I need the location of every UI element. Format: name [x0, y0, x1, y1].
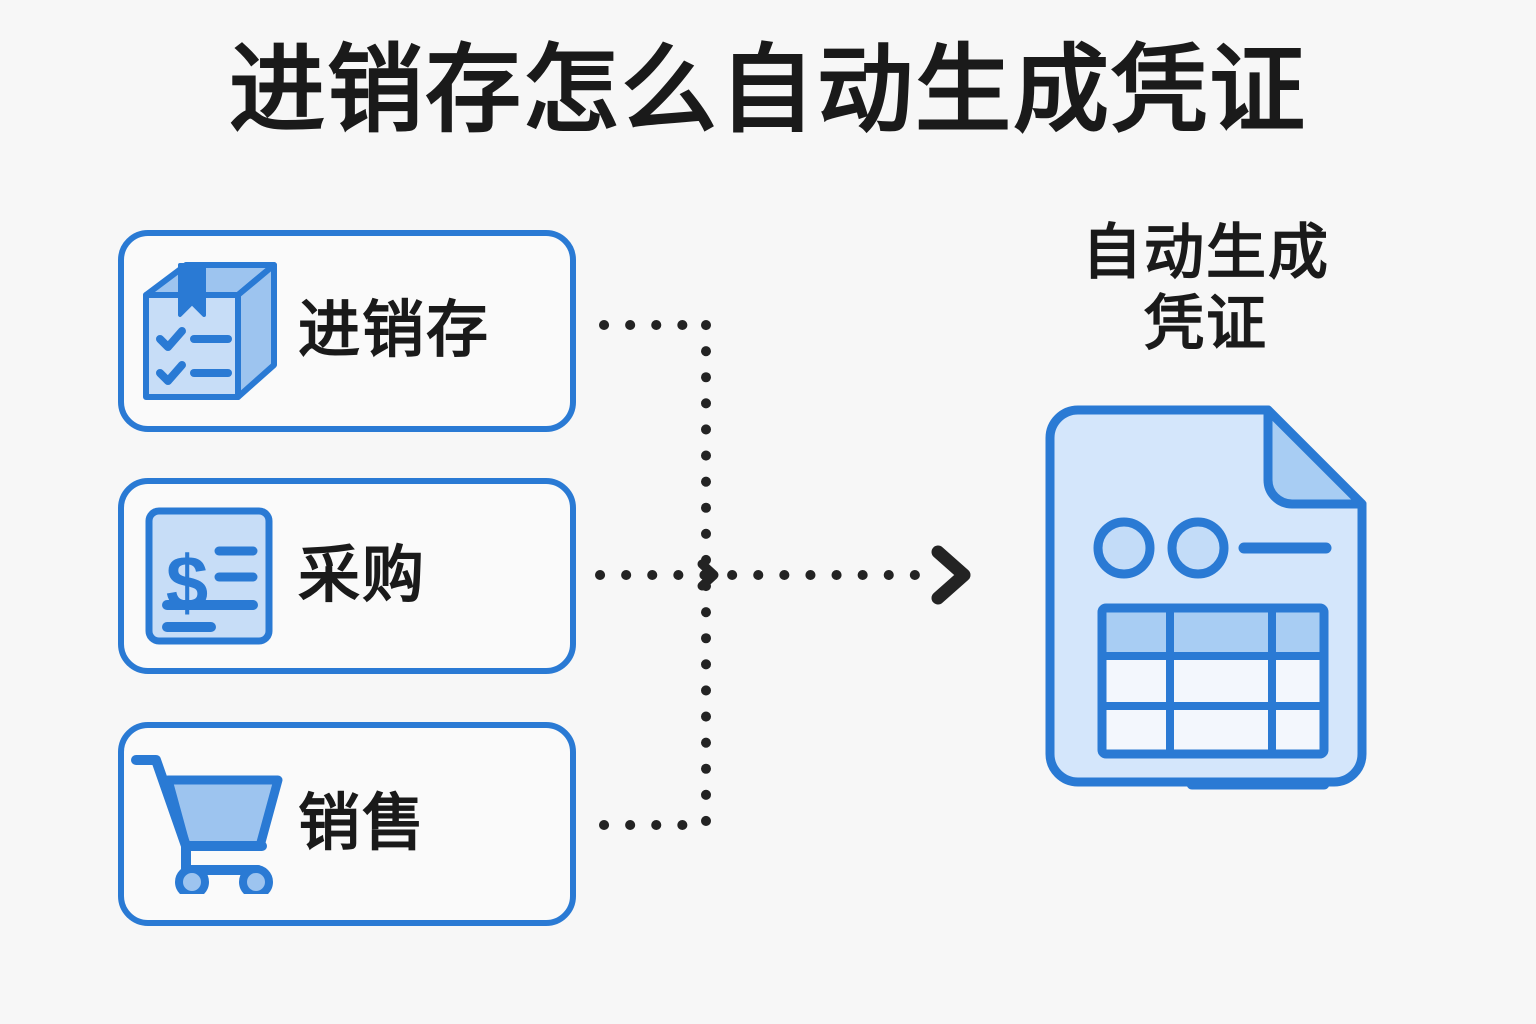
module-card-label: 进销存 [298, 300, 490, 362]
module-card-sales[interactable]: 销售 [118, 722, 576, 926]
output-heading-line-1: 自动生成 [1082, 219, 1330, 286]
module-card-label: 采购 [298, 545, 426, 607]
module-card-label: 销售 [298, 793, 426, 855]
shopping-cart-icon [124, 728, 294, 920]
document-circle-2 [1172, 522, 1224, 574]
document-table [1102, 608, 1324, 754]
diagram-canvas: 进销存怎么自动生成凭证 进销存 [0, 0, 1536, 1024]
output-heading: 自动生成 凭证 [1020, 218, 1392, 360]
document-circle-1 [1098, 522, 1150, 574]
svg-text:$: $ [166, 541, 208, 626]
voucher-document-icon [1040, 400, 1372, 792]
page-title: 进销存怎么自动生成凭证 [0, 38, 1536, 144]
module-card-purchase[interactable]: $ 采购 [118, 478, 576, 674]
invoice-dollar-icon: $ [124, 484, 294, 668]
module-card-inventory[interactable]: 进销存 [118, 230, 576, 432]
package-box-icon [124, 236, 294, 426]
chevron-right-icon [938, 552, 964, 598]
output-heading-line-2: 凭证 [1020, 289, 1392, 360]
connector-flow [580, 280, 1000, 860]
document-fold-corner [1268, 410, 1362, 504]
